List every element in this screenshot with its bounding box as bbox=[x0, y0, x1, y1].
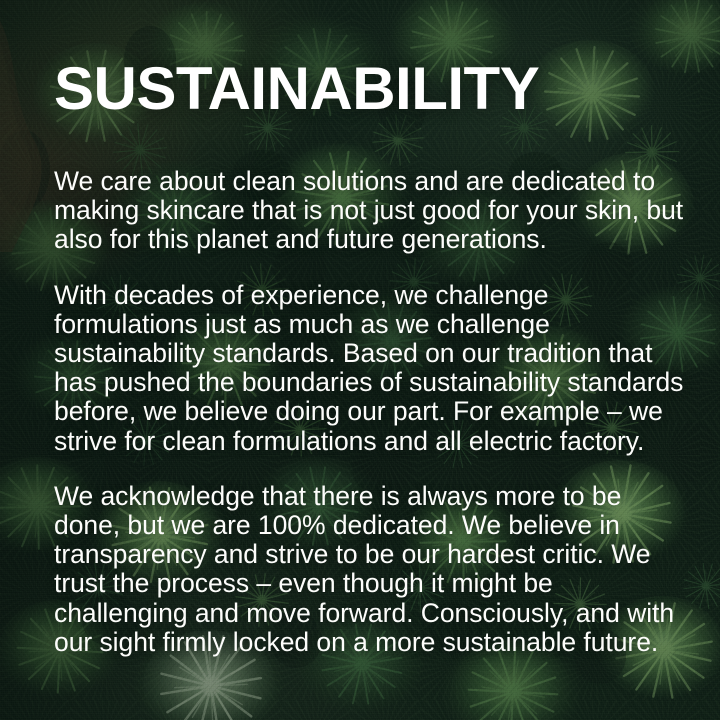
paragraph-clean-solutions: We care about clean solutions and are de… bbox=[54, 167, 690, 255]
paragraph-decades-of-experience: With decades of experience, we challenge… bbox=[54, 281, 690, 456]
page-title: SUSTAINABILITY bbox=[54, 58, 539, 120]
content-overlay: SUSTAINABILITY We care about clean solut… bbox=[0, 0, 720, 720]
paragraph-transparency-commitment: We acknowledge that there is always more… bbox=[54, 482, 690, 657]
body-copy: We care about clean solutions and are de… bbox=[54, 167, 690, 657]
sustainability-page: SUSTAINABILITY We care about clean solut… bbox=[0, 0, 720, 720]
